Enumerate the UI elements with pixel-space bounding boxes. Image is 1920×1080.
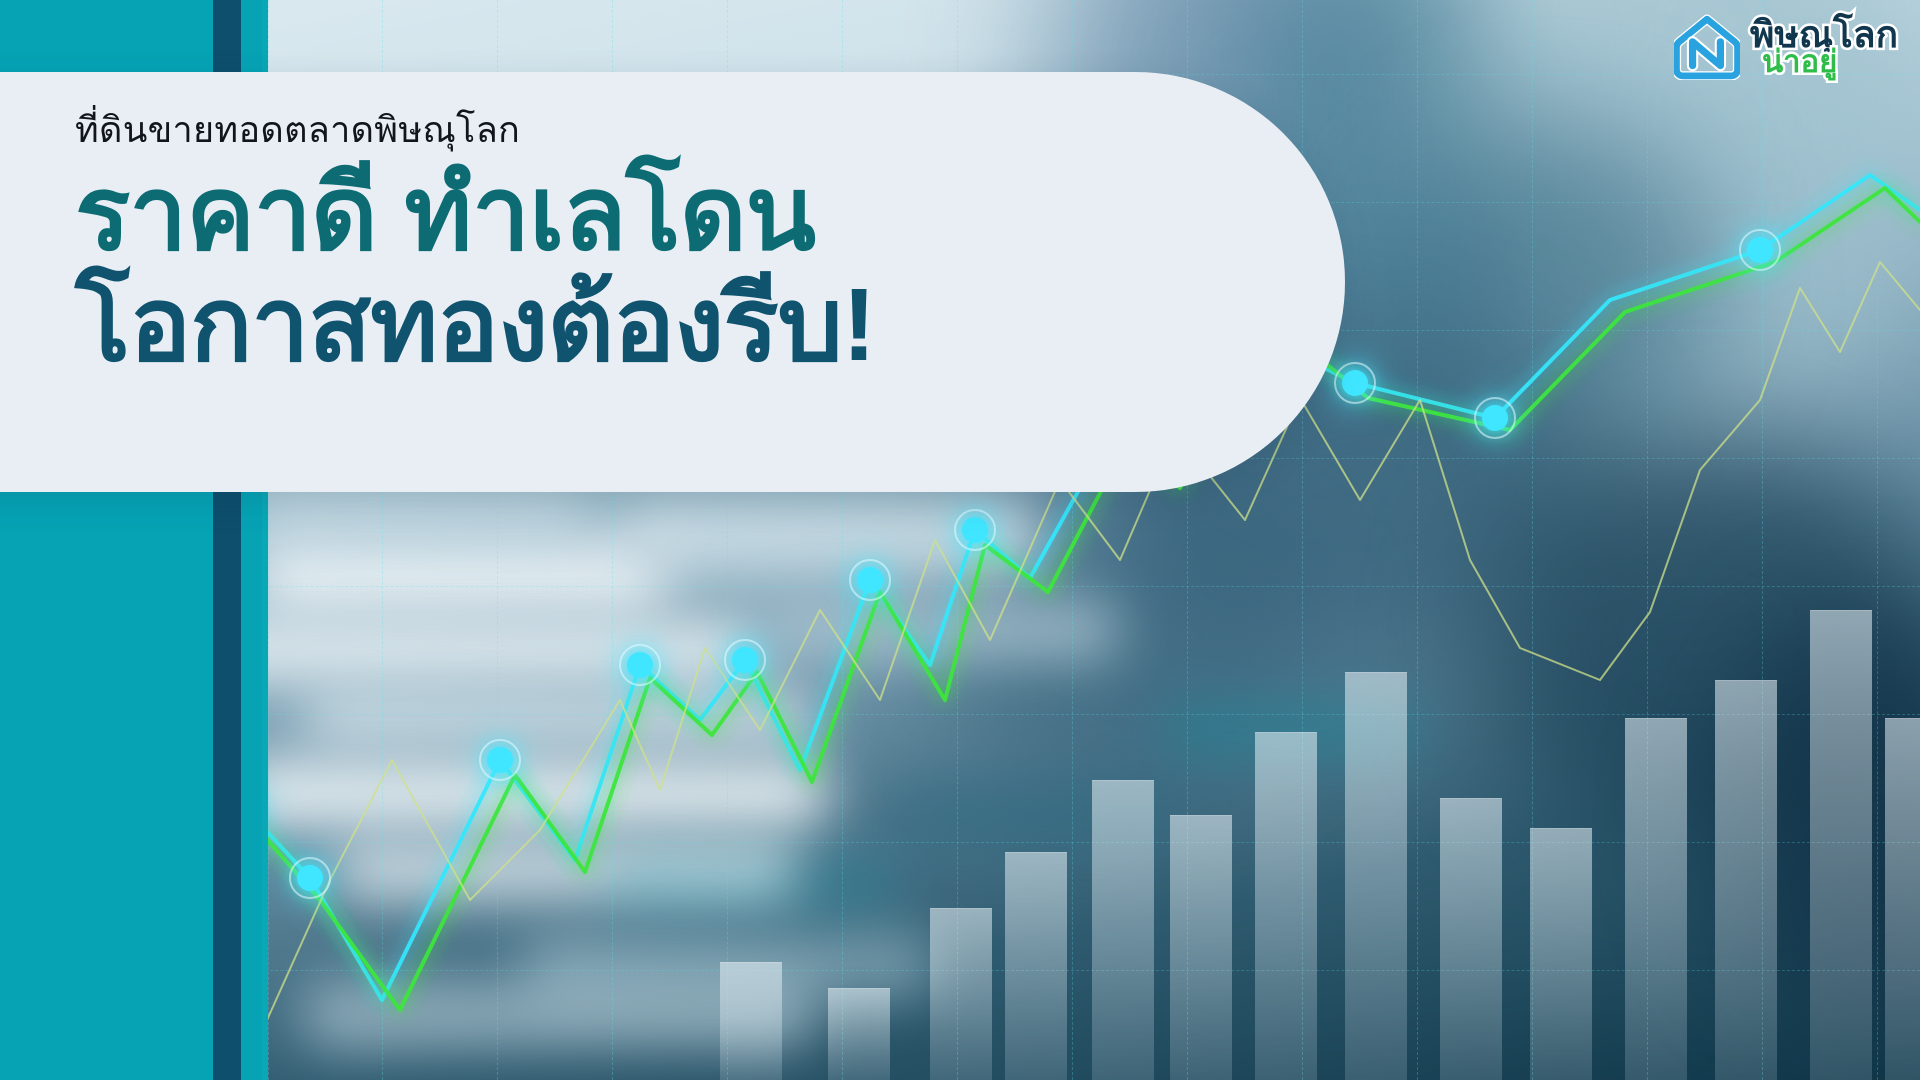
promotional-banner: ที่ดินขายทอดตลาดพิษณุโลก ราคาดี ทำเลโดน … <box>0 0 1920 1080</box>
logo-wordmark: พิษณุโลก น่าอยู่ <box>1750 18 1898 77</box>
chart-node <box>732 647 758 673</box>
headline-card: ที่ดินขายทอดตลาดพิษณุโลก ราคาดี ทำเลโดน … <box>0 72 1345 492</box>
brand-logo[interactable]: พิษณุโลก น่าอยู่ <box>1674 14 1898 80</box>
logo-name-secondary: น่าอยู่ <box>1762 48 1898 77</box>
chart-node <box>857 567 883 593</box>
chart-node <box>962 517 988 543</box>
house-n-icon <box>1674 14 1740 80</box>
chart-node <box>487 747 513 773</box>
headline-line-1: ราคาดี ทำเลโดน <box>75 158 1135 269</box>
chart-node <box>1482 405 1508 431</box>
headline-card-content: ที่ดินขายทอดตลาดพิษณุโลก ราคาดี ทำเลโดน … <box>75 112 1135 380</box>
chart-node <box>1342 370 1368 396</box>
headline-line-2: โอกาสทองต้องรีบ! <box>75 269 1135 380</box>
chart-node <box>1747 237 1773 263</box>
chart-node <box>627 652 653 678</box>
chart-node <box>297 865 323 891</box>
eyebrow-text: ที่ดินขายทอดตลาดพิษณุโลก <box>75 112 1135 148</box>
